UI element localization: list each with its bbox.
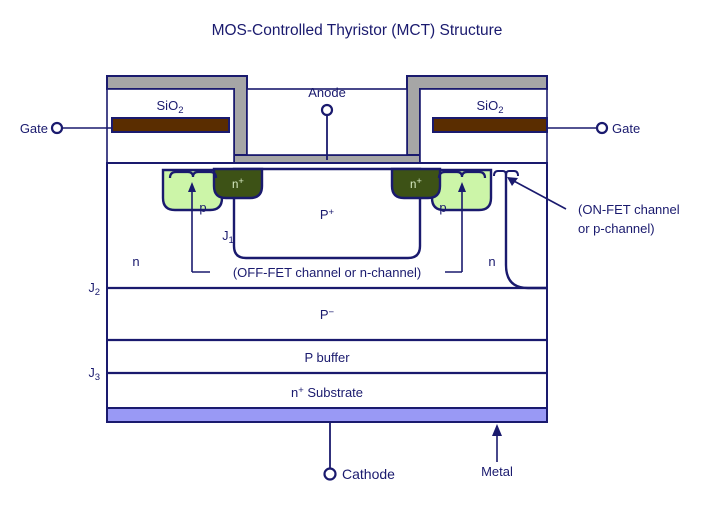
mct-diagram: MOS-Controlled Thyristor (MCT) Structure…	[0, 0, 714, 508]
pwell-label-left: p	[199, 200, 206, 215]
gate-electrode-right	[433, 118, 547, 132]
mct-structure-svg: MOS-Controlled Thyristor (MCT) Structure…	[0, 0, 714, 508]
junction-label-j2: J2	[88, 281, 100, 298]
gate-electrode-left	[112, 118, 229, 132]
metal-arrow-head	[492, 424, 502, 436]
cathode-label: Cathode	[342, 466, 395, 482]
junction-label-j3: J3	[88, 366, 100, 383]
anode-terminal[interactable]	[322, 105, 332, 115]
gate-terminal-left[interactable]	[52, 123, 62, 133]
on-fet-annotation-line1: (ON-FET channel	[578, 202, 680, 217]
gate-label-left: Gate	[20, 121, 48, 136]
diagram-title: MOS-Controlled Thyristor (MCT) Structure	[212, 22, 503, 39]
metal-annotation: Metal	[481, 464, 513, 479]
pwell-label-right: p	[439, 200, 446, 215]
gate-terminal-right[interactable]	[597, 123, 607, 133]
p-buffer-label: P buffer	[304, 350, 350, 365]
anode-label: Anode	[308, 85, 346, 100]
n-drift-label-left: n	[132, 254, 139, 269]
n-drift-label-right: n	[488, 254, 495, 269]
on-fet-annotation-line2: or p-channel)	[578, 221, 655, 236]
gate-label-right: Gate	[612, 121, 640, 136]
cathode-terminal[interactable]	[325, 469, 336, 480]
off-fet-annotation: (OFF-FET channel or n-channel)	[233, 265, 421, 280]
cathode-metal-layer	[107, 408, 547, 422]
